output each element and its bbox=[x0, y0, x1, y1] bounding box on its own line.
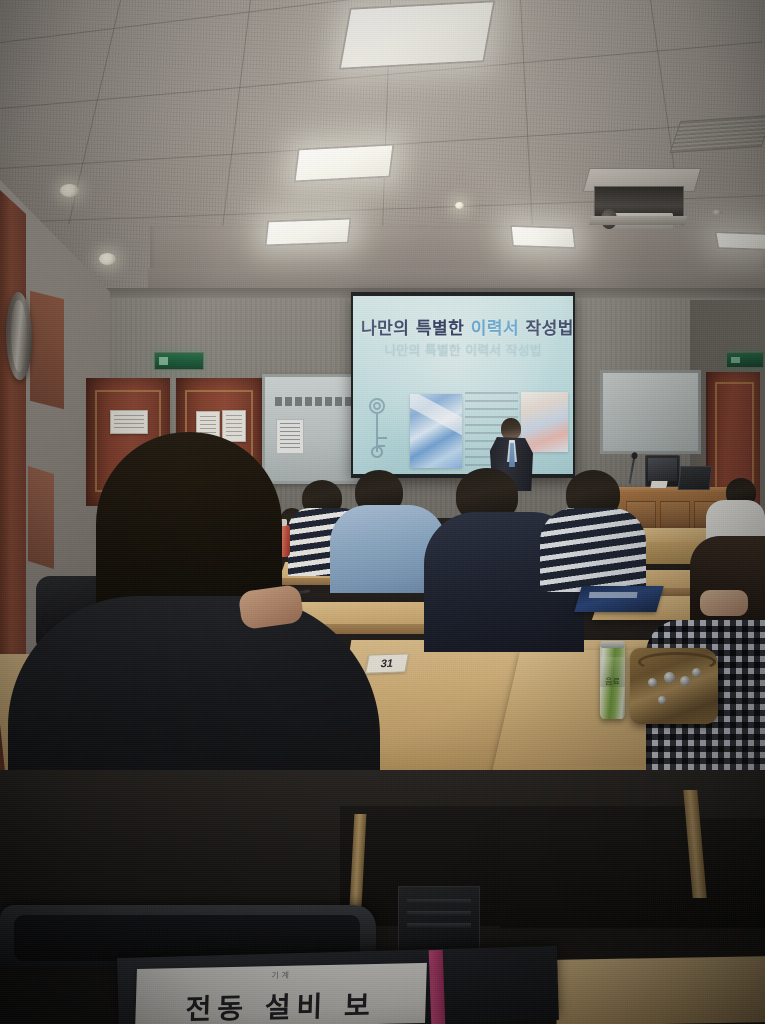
pc-slot bbox=[407, 923, 471, 928]
whiteboard-heading-marks bbox=[275, 397, 363, 406]
ceiling-light-panel bbox=[714, 231, 765, 251]
pc-slot bbox=[407, 911, 471, 916]
navy-folder bbox=[574, 586, 663, 612]
binder-spine-tab bbox=[429, 950, 446, 1024]
person-torso-striped-right bbox=[540, 508, 646, 592]
ceiling-projector bbox=[586, 168, 696, 230]
ceiling-light-panel bbox=[294, 144, 395, 183]
door-notice-paper bbox=[222, 410, 246, 442]
can-label-text: 음료 bbox=[600, 677, 625, 686]
can-lid bbox=[600, 641, 625, 648]
ceiling-downlight bbox=[60, 184, 79, 197]
ceiling-light-panel bbox=[264, 218, 351, 247]
lecture-hall-photo: 나만의 특별한 이력서 작성법 나만의 특별한 이력서 작성법 bbox=[0, 0, 765, 1024]
desk-number-label: 31 bbox=[365, 653, 409, 673]
handbag-hardware bbox=[648, 678, 657, 687]
projector-base bbox=[589, 216, 687, 225]
ceiling-light-panel bbox=[339, 0, 496, 69]
handbag-hardware bbox=[664, 672, 675, 683]
ceiling-downlight bbox=[455, 202, 464, 209]
screen-sheen bbox=[353, 296, 573, 474]
pc-slot bbox=[407, 899, 471, 904]
lectern-panel bbox=[660, 501, 690, 531]
projection-screen: 나만의 특별한 이력서 작성법 나만의 특별한 이력서 작성법 bbox=[353, 296, 573, 474]
placard-big-text: 전동 설비 보 bbox=[135, 983, 426, 1024]
binder-label-placard: 기계 전동 설비 보 bbox=[135, 963, 427, 1024]
handbag-strap bbox=[638, 652, 716, 672]
left-wall-panel bbox=[30, 291, 64, 409]
handbag-hardware bbox=[658, 696, 666, 704]
foreground-desk-right bbox=[555, 956, 765, 1024]
exit-sign-right bbox=[726, 352, 764, 368]
handbag bbox=[630, 648, 718, 724]
handbag-hardware bbox=[692, 668, 701, 677]
person-hand-right-edge bbox=[700, 590, 748, 616]
ceiling-light-panel bbox=[510, 225, 577, 249]
podium-paper bbox=[650, 481, 667, 488]
under-desk-shadow bbox=[500, 818, 765, 928]
smoke-detector-icon bbox=[712, 210, 722, 215]
presenter-head bbox=[501, 418, 521, 440]
podium-laptop bbox=[678, 466, 713, 490]
whiteboard-posted-paper bbox=[276, 419, 304, 454]
ceiling-air-vent bbox=[670, 115, 765, 153]
door-notice-paper bbox=[110, 410, 148, 434]
wall-whiteboard-right bbox=[600, 370, 701, 454]
exit-sign-left bbox=[154, 352, 204, 370]
ceiling-downlight bbox=[99, 253, 116, 265]
handbag-hardware bbox=[680, 676, 690, 686]
left-wall-panel bbox=[28, 466, 54, 569]
beverage-can: 음료 bbox=[600, 641, 625, 719]
